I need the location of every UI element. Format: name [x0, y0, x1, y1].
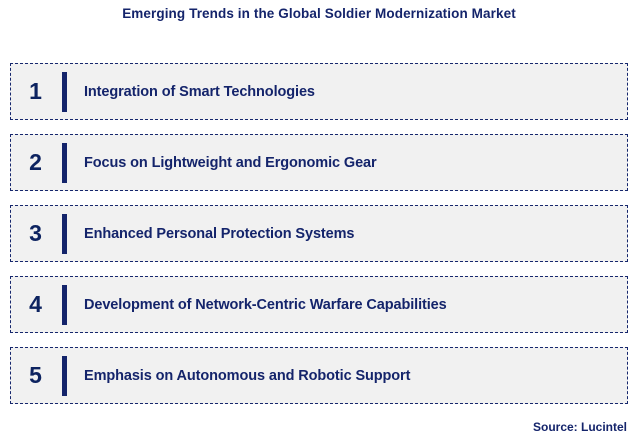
- trend-label: Enhanced Personal Protection Systems: [67, 226, 627, 242]
- trend-rank-number: 1: [11, 80, 56, 103]
- trend-rank-number: 4: [11, 293, 56, 316]
- trend-row: 3 Enhanced Personal Protection Systems: [10, 205, 628, 262]
- page-title: Emerging Trends in the Global Soldier Mo…: [0, 6, 638, 21]
- trend-rank-number: 2: [11, 151, 56, 174]
- trend-label: Integration of Smart Technologies: [67, 84, 627, 100]
- trend-row: 4 Development of Network-Centric Warfare…: [10, 276, 628, 333]
- trend-label: Focus on Lightweight and Ergonomic Gear: [67, 155, 627, 171]
- trend-rank-number: 3: [11, 222, 56, 245]
- trend-row: 5 Emphasis on Autonomous and Robotic Sup…: [10, 347, 628, 404]
- trend-rank-number: 5: [11, 364, 56, 387]
- trend-list: 1 Integration of Smart Technologies 2 Fo…: [10, 63, 628, 404]
- trend-row: 2 Focus on Lightweight and Ergonomic Gea…: [10, 134, 628, 191]
- trend-label: Emphasis on Autonomous and Robotic Suppo…: [67, 368, 627, 384]
- trend-row: 1 Integration of Smart Technologies: [10, 63, 628, 120]
- trend-label: Development of Network-Centric Warfare C…: [67, 297, 627, 313]
- source-attribution: Source: Lucintel: [533, 420, 627, 434]
- infographic-container: Emerging Trends in the Global Soldier Mo…: [0, 0, 638, 443]
